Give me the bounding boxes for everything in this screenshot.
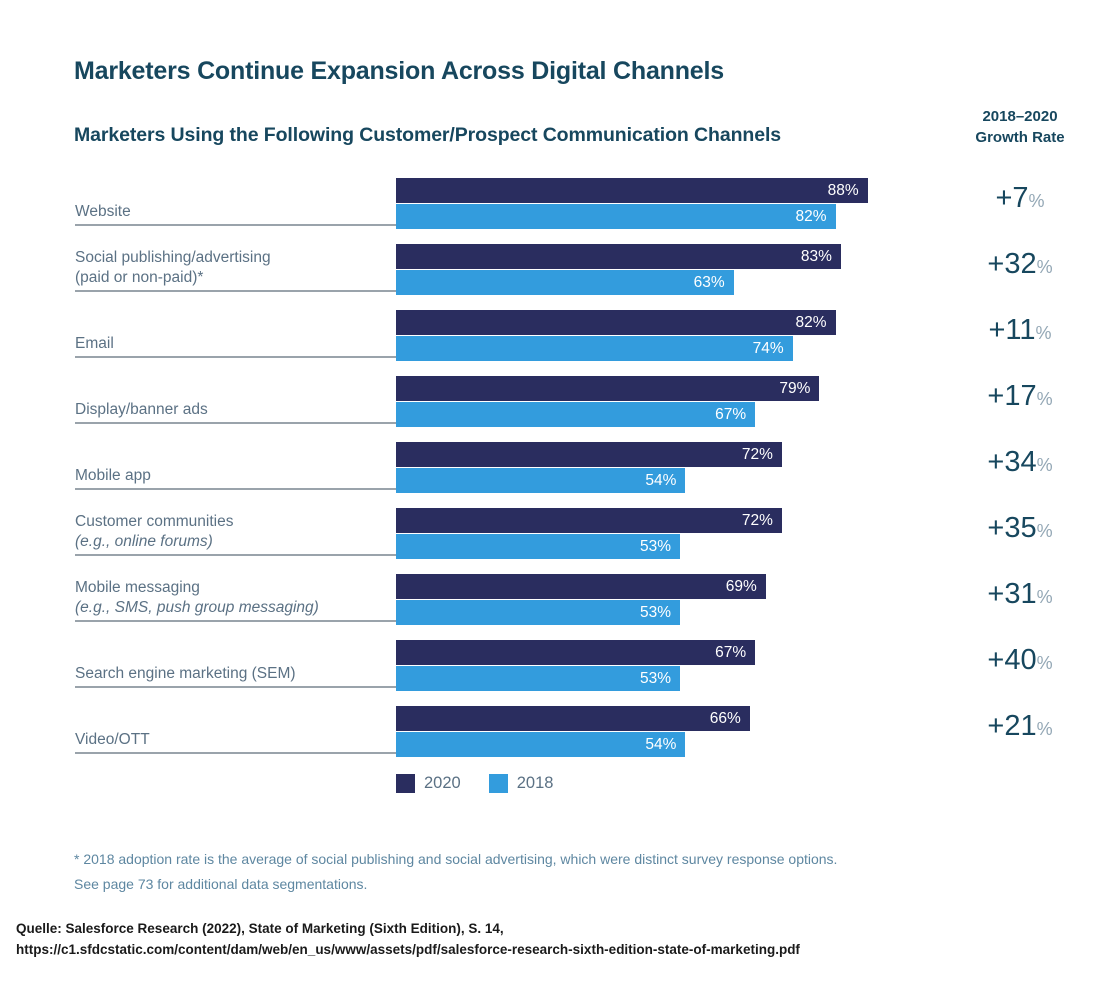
growth-rate-percent-sign: % [1037,653,1053,673]
growth-rate-percent-sign: % [1036,323,1052,343]
bar-value-2020: 79% [779,380,810,398]
bar-group: 72%53% [396,508,782,559]
chart-subtitle: Marketers Using the Following Customer/P… [74,124,781,147]
bar-value-2018: 67% [715,406,746,424]
bar-value-2018: 82% [795,208,826,226]
bar-value-2018: 74% [753,340,784,358]
bar-group: 83%63% [396,244,841,295]
row-label-subtext: (e.g., online forums) [75,532,387,552]
bar-value-2020: 88% [828,182,859,200]
row-label: Customer communities(e.g., online forums… [75,512,387,552]
bar-value-2020: 69% [726,578,757,596]
bar-2018: 82% [396,204,836,229]
growth-rate-value: +11% [930,314,1110,347]
bar-2020: 67% [396,640,755,665]
bar-value-2020: 82% [795,314,826,332]
growth-rate-number: +32 [987,248,1036,280]
legend-swatch-icon [489,774,508,793]
page-title: Marketers Continue Expansion Across Digi… [74,57,724,86]
bar-2020: 88% [396,178,868,203]
growth-rate-percent-sign: % [1037,587,1053,607]
row-label-text: Search engine marketing (SEM) [75,665,296,682]
chart-row: Display/banner ads79%67%+17% [0,368,1120,434]
growth-rate-number: +7 [995,182,1028,214]
growth-rate-number: +35 [987,512,1036,544]
bar-group: 69%53% [396,574,766,625]
bar-group: 82%74% [396,310,836,361]
chart-row: Search engine marketing (SEM)67%53%+40% [0,632,1120,698]
bar-2018: 53% [396,534,680,559]
growth-rate-value: +40% [930,644,1110,677]
legend-item[interactable]: 2018 [489,774,554,793]
bar-value-2020: 72% [742,446,773,464]
chart-row: Email82%74%+11% [0,302,1120,368]
row-label-text: Social publishing/advertising [75,249,271,266]
growth-rate-percent-sign: % [1037,521,1053,541]
bar-2018: 54% [396,732,685,757]
legend-label: 2018 [517,774,554,793]
bar-value-2018: 63% [694,274,725,292]
row-label: Search engine marketing (SEM) [75,664,387,684]
growth-rate-percent-sign: % [1037,719,1053,739]
bar-value-2018: 53% [640,604,671,622]
row-underline [75,620,396,622]
chart-row: Video/OTT66%54%+21% [0,698,1120,764]
growth-rate-number: +34 [987,446,1036,478]
growth-rate-number: +11 [988,314,1035,346]
bar-2018: 74% [396,336,793,361]
chart-row: Mobile messaging(e.g., SMS, push group m… [0,566,1120,632]
growth-rate-value: +17% [930,380,1110,413]
source-citation: Quelle: Salesforce Research (2022), Stat… [16,918,1106,960]
source-line-1: Quelle: Salesforce Research (2022), Stat… [16,918,1106,939]
row-label-text: Customer communities [75,513,234,530]
row-underline [75,224,396,226]
row-label-text: Mobile messaging [75,579,200,596]
bar-value-2018: 53% [640,538,671,556]
footnote: * 2018 adoption rate is the average of s… [74,847,974,897]
row-label-text: Mobile app [75,467,151,484]
row-label-text: Website [75,203,131,220]
row-label: Video/OTT [75,730,387,750]
bar-group: 67%53% [396,640,755,691]
growth-rate-value: +32% [930,248,1110,281]
bar-value-2020: 67% [715,644,746,662]
chart-legend: 20202018 [396,774,553,793]
row-underline [75,422,396,424]
bar-2020: 82% [396,310,836,335]
growth-rate-number: +17 [987,380,1036,412]
row-label: Email [75,334,387,354]
bar-2018: 53% [396,666,680,691]
footnote-line-1: * 2018 adoption rate is the average of s… [74,847,974,872]
row-label-subtext: (paid or non-paid)* [75,268,387,288]
growth-rate-percent-sign: % [1037,257,1053,277]
row-underline [75,686,396,688]
bar-2020: 79% [396,376,819,401]
bar-2020: 69% [396,574,766,599]
growth-rate-percent-sign: % [1029,191,1045,211]
growth-rate-column-header: 2018–2020 Growth Rate [930,106,1110,148]
growth-rate-number: +31 [987,578,1036,610]
legend-swatch-icon [396,774,415,793]
row-label: Social publishing/advertising(paid or no… [75,248,387,288]
bar-value-2020: 83% [801,248,832,266]
bar-2020: 72% [396,442,782,467]
footnote-line-2: See page 73 for additional data segmenta… [74,872,974,897]
growth-rate-percent-sign: % [1037,389,1053,409]
chart-rows: Website88%82%+7%Social publishing/advert… [0,170,1120,764]
legend-item[interactable]: 2020 [396,774,461,793]
chart-row: Mobile app72%54%+34% [0,434,1120,500]
row-label: Display/banner ads [75,400,387,420]
row-underline [75,752,396,754]
bar-group: 88%82% [396,178,868,229]
row-label-text: Video/OTT [75,731,150,748]
row-label-subtext: (e.g., SMS, push group messaging) [75,598,387,618]
bar-group: 66%54% [396,706,750,757]
chart-row: Website88%82%+7% [0,170,1120,236]
bar-value-2020: 72% [742,512,773,530]
bar-2018: 54% [396,468,685,493]
growth-header-text: Growth Rate [930,127,1110,148]
row-label: Mobile messaging(e.g., SMS, push group m… [75,578,387,618]
bar-value-2018: 54% [645,736,676,754]
growth-rate-percent-sign: % [1037,455,1053,475]
growth-rate-number: +40 [987,644,1036,676]
bar-2018: 53% [396,600,680,625]
row-underline [75,356,396,358]
row-label-text: Email [75,335,114,352]
bar-value-2020: 66% [710,710,741,728]
growth-rate-value: +35% [930,512,1110,545]
growth-header-years: 2018–2020 [930,106,1110,127]
bar-group: 79%67% [396,376,819,427]
chart-row: Customer communities(e.g., online forums… [0,500,1120,566]
bar-value-2018: 53% [640,670,671,688]
growth-rate-number: +21 [987,710,1036,742]
row-label: Mobile app [75,466,387,486]
bar-2018: 67% [396,402,755,427]
growth-rate-value: +34% [930,446,1110,479]
row-underline [75,554,396,556]
bar-2020: 83% [396,244,841,269]
chart-row: Social publishing/advertising(paid or no… [0,236,1120,302]
source-line-2: https://c1.sfdcstatic.com/content/dam/we… [16,939,1106,960]
row-label-text: Display/banner ads [75,401,208,418]
bar-2020: 66% [396,706,750,731]
bar-2018: 63% [396,270,734,295]
row-label: Website [75,202,387,222]
row-underline [75,488,396,490]
bar-2020: 72% [396,508,782,533]
growth-rate-value: +21% [930,710,1110,743]
legend-label: 2020 [424,774,461,793]
growth-rate-value: +7% [930,182,1110,215]
growth-rate-value: +31% [930,578,1110,611]
bar-value-2018: 54% [645,472,676,490]
bar-group: 72%54% [396,442,782,493]
row-underline [75,290,396,292]
